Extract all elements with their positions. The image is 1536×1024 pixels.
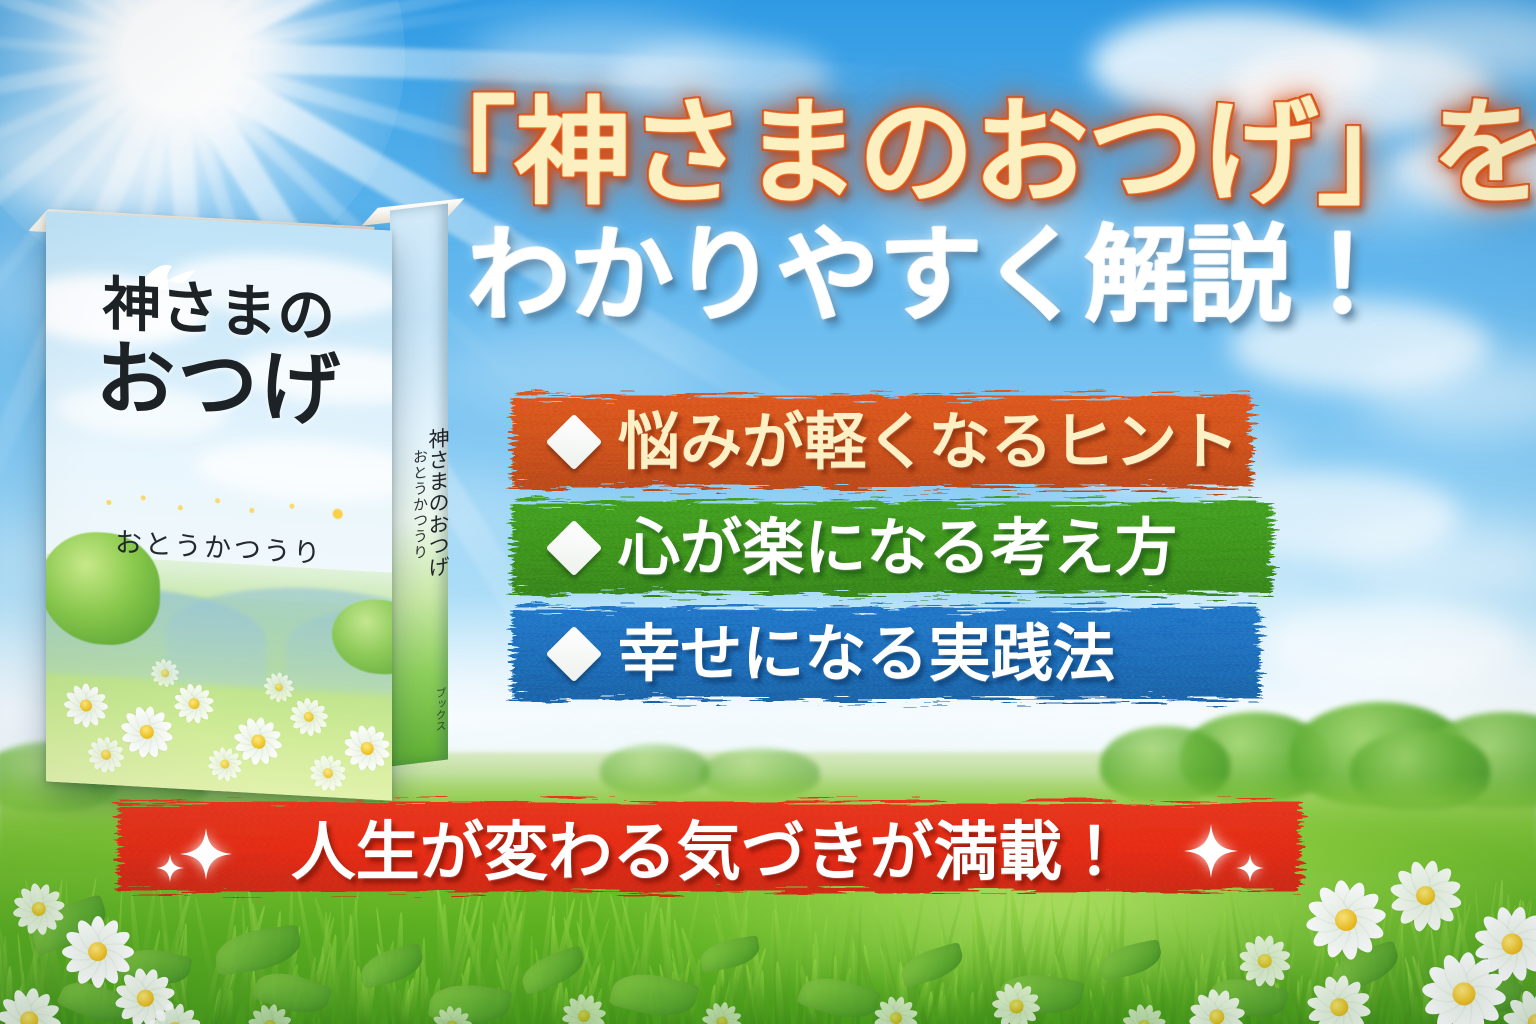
sparkle-icon	[1184, 824, 1238, 878]
daisy-center	[303, 711, 315, 722]
daisy-icon	[1413, 943, 1515, 1024]
promo-banner-stage: 神さまのおつげ おとうかつうり ブックス 神さまの	[0, 0, 1536, 1024]
daisy-icon	[203, 743, 246, 785]
feature-bar-2[interactable]: 心が楽になる考え方	[512, 502, 1272, 594]
daisy-center	[161, 669, 170, 677]
daisy-icon	[84, 732, 128, 777]
sparkle-icon	[156, 854, 184, 882]
headline-line-2: わかりやすく解説！	[400, 218, 1460, 332]
book-spine-publisher: ブックス	[390, 673, 448, 750]
daisy-icon	[1379, 849, 1473, 943]
sparkle-glyph	[1184, 824, 1238, 878]
daisy-icon	[987, 977, 1045, 1024]
daisy-icon	[261, 668, 296, 705]
headline-block: 「神さまのおつげ」を わかりやすく解説！	[400, 92, 1460, 333]
feature-bar-1[interactable]: 悩みが軽くなるヒント	[512, 396, 1252, 488]
daisy-icon	[428, 1002, 476, 1024]
sparkle-icon	[1236, 854, 1264, 882]
sparkle-icon	[180, 828, 232, 880]
daisy-icon	[62, 680, 110, 731]
feature-bar-list: 悩みが軽くなるヒント 心が楽になる考え方 幸せになる実践法	[512, 396, 1302, 714]
daisy-center	[88, 942, 108, 962]
daisy-center	[80, 699, 92, 712]
headline-line-1: 「神さまのおつげ」を	[400, 92, 1460, 216]
feature-bar-3-label: 幸せになる実践法	[618, 623, 1115, 685]
bottom-banner-text: 人生が変わる気づきが満載！	[291, 801, 1126, 893]
book-front-cover: 神さまの おつげ おとうかつうり	[46, 211, 392, 800]
sparkle-glyph	[1236, 854, 1264, 882]
sparkle-glyph	[180, 828, 232, 880]
bottom-banner[interactable]: 人生が変わる気づきが満載！	[118, 802, 1300, 892]
daisy-icon	[557, 989, 612, 1024]
book-mockup[interactable]: 神さまのおつげ おとうかつうり ブックス 神さまの	[46, 203, 451, 803]
daisy-icon	[148, 657, 183, 690]
feature-bar-2-label: 心が楽になる考え方	[618, 517, 1177, 579]
feature-bar-1-label: 悩みが軽くなるヒント	[618, 411, 1239, 473]
cover-title: 神さまの おつげ	[46, 271, 392, 435]
book-spine-author: おとうかつうり	[412, 448, 427, 561]
sparkle-glyph	[156, 854, 184, 882]
book-spine-title: 神さまのおつげ	[427, 426, 448, 579]
cover-title-line2: おつげ	[46, 334, 392, 435]
feature-bar-3[interactable]: 幸せになる実践法	[512, 608, 1260, 700]
